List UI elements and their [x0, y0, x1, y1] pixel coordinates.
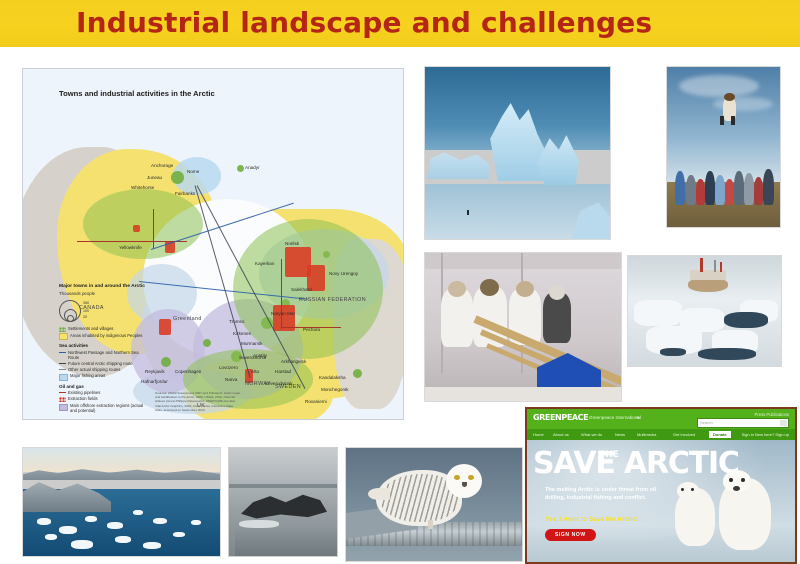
org-selector-label[interactable]: Greenpeace International [589, 415, 641, 420]
legend-section-title: Sea activities [59, 343, 145, 348]
dark-line-icon [59, 363, 66, 364]
tent-roof [425, 253, 621, 269]
iceberg-fragment [59, 526, 77, 534]
greenpeace-logo[interactable]: GREENPEACE [533, 413, 588, 422]
hood [549, 285, 565, 300]
legend-item-label: Settlements and villages [68, 326, 113, 331]
horizon [229, 484, 337, 488]
iceberg-fragment [191, 520, 201, 525]
photo-iceberg [424, 66, 611, 240]
leg [731, 116, 735, 125]
map-town-label: Lovozero [219, 365, 238, 370]
owl-head [446, 464, 482, 498]
iceberg-fragment [133, 510, 143, 515]
seated-person [543, 293, 571, 343]
ice-floe [634, 300, 682, 326]
map-town-label: Whitehorse [131, 185, 154, 190]
map-pipeline [153, 209, 154, 249]
legend-item: Future central Arctic shipping route [59, 361, 145, 366]
map-country-label: Greenland [173, 316, 202, 322]
nav-item-what-we-do[interactable]: What we do [581, 432, 602, 437]
map-town-label: Nome [187, 169, 199, 174]
iceberg-fragment [37, 518, 51, 525]
map-town-label: Novy Urengoy [329, 271, 358, 276]
nav-item-news[interactable]: News [615, 432, 625, 437]
photo-blanket-toss [666, 66, 781, 228]
leg [720, 116, 724, 125]
legend-item-label: Northwest Passage and Northern Sea Route [68, 350, 145, 360]
bear-eye [729, 478, 733, 482]
fur-hood [448, 281, 466, 297]
search-icon[interactable] [780, 420, 787, 426]
cloud [679, 75, 759, 97]
nav-item-about-us[interactable]: About us [553, 432, 569, 437]
hero-cta-text: Yes, I want to Save the Arctic! [545, 516, 638, 523]
iceberg-fragment [107, 522, 123, 529]
map-town-marker [353, 369, 362, 378]
photo-whale-fluke [228, 447, 338, 557]
open-water-lead [724, 312, 768, 328]
hero-headline-the: THE [599, 450, 619, 460]
photo-snowy-owl [345, 447, 523, 562]
map-town-label: Kirkenes [233, 331, 251, 336]
map-town-label: Yellowknife [119, 245, 142, 250]
legend-scale-label: Thousands people [59, 291, 145, 297]
crowd-person [696, 179, 705, 205]
nav-item-get-involved[interactable]: Get involved [673, 432, 695, 437]
owl-beak [462, 482, 467, 487]
seated-person [441, 289, 473, 347]
legend-item: Extraction fields [59, 396, 145, 402]
map-town-label: Anchorage [151, 163, 173, 168]
page-title: Industrial landscape and challenges [76, 6, 652, 39]
iceberg-fragment [71, 540, 93, 549]
map-town-label: Tromso [229, 319, 244, 324]
map-town-marker [171, 171, 184, 184]
chevron-down-icon[interactable]: ▾ [637, 415, 639, 421]
legend-proportional-circles: 350 100 20 [59, 299, 145, 325]
map-town-label: Copenhagen [175, 369, 201, 374]
map-town-marker [237, 165, 244, 172]
legend-item: Northwest Passage and Northern Sea Route [59, 350, 145, 360]
map-town-label: Norilsk [285, 241, 299, 246]
legend-item-label: Areas inhabited by indigenous Peoples [70, 333, 142, 338]
map-town-label: Murmansk [241, 341, 262, 346]
photo-fjord-icebergs [22, 447, 221, 557]
sign-now-button[interactable]: SIGN NOW [545, 529, 596, 541]
green-dots-icon [59, 327, 66, 332]
legend-heading: Major towns in and around the Arctic [59, 284, 145, 290]
polar-bear-head [677, 482, 699, 499]
legend-item: Settlements and villages [59, 326, 145, 332]
hero-body-text: The melting Arctic is under threat from … [545, 486, 663, 502]
slide-title-bar: Industrial landscape and challenges [0, 0, 800, 47]
map-town-label: Harstad [275, 369, 291, 374]
snow-floor [425, 387, 621, 401]
crowd-person [754, 177, 763, 205]
iceberg-fragment [153, 518, 167, 524]
yellow-area-icon [59, 333, 68, 340]
map-indigenous-area [83, 189, 203, 259]
iceberg-fragment [173, 532, 185, 537]
map-extraction-field [159, 319, 171, 335]
legend-item-label: Major fishing areas [70, 373, 105, 378]
legend-scale-value: 100 [83, 309, 89, 313]
person-on-ice [467, 210, 469, 215]
owl-eye [454, 475, 460, 480]
hero-headline: SAVE ARCTIC [533, 446, 739, 481]
map-town-marker [161, 357, 171, 367]
crowd-person [705, 171, 715, 205]
crowd-person [686, 175, 696, 205]
map-town-marker [203, 339, 211, 347]
sky-region [23, 448, 220, 472]
map-town-label: Salekhard [291, 287, 312, 292]
map-town-label: Severodvinsk [265, 381, 293, 386]
map-legend: Major towns in and around the Arctic Tho… [59, 284, 145, 413]
map-pipeline [281, 259, 282, 329]
blue-line-icon [59, 352, 66, 353]
map-source-credit: Sources: AMAP Assessment 2007 and Pollut… [155, 391, 241, 412]
derrick [700, 258, 703, 272]
map-town-label: Naryan Mar [271, 311, 295, 316]
red-line-icon [59, 392, 66, 393]
map-town-label: Kayerkan [255, 261, 274, 266]
bear-eye [741, 478, 745, 482]
donate-button[interactable]: Donate [709, 431, 731, 438]
map-town-label: Anadyr [245, 165, 260, 170]
blue-patch-icon [59, 374, 68, 381]
map-town-label: Rovaniemi [305, 399, 327, 404]
purple-patch-icon [59, 404, 68, 411]
map-town-label: Fairbanks [175, 191, 195, 196]
search-input[interactable]: Search [697, 418, 789, 428]
legend-scale-value: 350 [83, 301, 89, 305]
cloud [713, 97, 773, 111]
iceberg-fragment [115, 536, 131, 543]
mast [714, 260, 716, 272]
greenpeace-header-bar: GREENPEACE Greenpeace International ▾ Pr… [527, 409, 795, 429]
rig-hull [688, 278, 728, 292]
legend-item-label: Main offshore extraction regions (actual… [70, 403, 145, 413]
crowd-person [715, 175, 725, 205]
legend-circle-small [67, 315, 74, 322]
map-town-label: Juneau [147, 175, 162, 180]
map-country-label: RUSSIAN FEDERATION [299, 297, 366, 303]
map-town-label: Monchegorsk [321, 387, 349, 392]
thin-line-icon [59, 369, 66, 370]
header-utility-links[interactable]: Press Publications [755, 412, 789, 417]
map-town-label: Severomorsk [239, 355, 266, 360]
nav-item-multimedia[interactable]: Multimedia [637, 432, 656, 437]
fur-hood [724, 93, 735, 101]
iceberg-fragment [85, 516, 97, 522]
legend-item: Main offshore extraction regions (actual… [59, 403, 145, 413]
fur-hood [480, 279, 499, 296]
water-splash [239, 520, 279, 528]
arctic-map-figure: Towns and industrial activities in the A… [22, 68, 404, 420]
map-extraction-field [133, 225, 140, 232]
bear-eye [681, 488, 684, 491]
legend-item: Other actual shipping routes [59, 367, 145, 372]
legend-item: Existing pipelines [59, 390, 145, 395]
open-water-lead [698, 348, 756, 360]
legend-item-label: Future central Arctic shipping route [68, 361, 133, 366]
owl-tail [368, 488, 390, 500]
map-town-label: Alta [251, 369, 259, 374]
crowd-person [734, 171, 744, 205]
legend-item: Areas inhabited by indigenous Peoples [59, 333, 145, 341]
legend-item-label: Extraction fields [68, 396, 98, 401]
legend-section-title: Oil and gas [59, 384, 145, 389]
map-town-label: Kandalaksha [319, 375, 346, 380]
map-town-label: Pechora [303, 327, 320, 332]
legend-item-label: Other actual shipping routes [68, 367, 120, 372]
iceberg-fragment [143, 542, 161, 549]
mast [720, 262, 722, 272]
water-foreground [235, 528, 338, 556]
crowd-person [744, 173, 754, 205]
open-water-lead [660, 348, 686, 356]
iceberg-left [427, 145, 489, 179]
account-links[interactable]: Sign in New here? Sign up [742, 432, 789, 437]
owl-talon [428, 520, 433, 529]
legend-scale-value: 20 [83, 315, 87, 319]
map-town-label: Hafnarfjordur [141, 379, 168, 384]
crowd-person [675, 171, 685, 205]
bear-nose [733, 486, 740, 491]
foreground-island [23, 478, 111, 512]
map-town-label: Reykjavik [145, 369, 165, 374]
owl-eye [468, 475, 474, 480]
iceberg-fragment [45, 534, 57, 540]
fur-hood [516, 281, 534, 297]
red-dots-icon [59, 397, 66, 402]
bear-eye [691, 488, 694, 491]
photo-oil-rig-ice [627, 255, 782, 367]
greenpeace-nav-bar: Home About us What we do News Multimedia… [527, 429, 795, 440]
photo-whaling-tent [424, 252, 622, 402]
map-town-label: Narva [225, 377, 237, 382]
greenpeace-hero-banner: SAVE ARCTIC THE The melting Arctic is un… [527, 440, 795, 562]
photo-greenpeace-save-the-arctic: GREENPEACE Greenpeace International ▾ Pr… [525, 407, 797, 564]
search-placeholder: Search [700, 420, 713, 425]
nav-item-home[interactable]: Home [533, 432, 544, 437]
map-title: Towns and industrial activities in the A… [59, 89, 215, 98]
crowd-person [725, 179, 734, 205]
crowd-person [763, 169, 774, 205]
legend-item: Major fishing areas [59, 373, 145, 381]
legend-item-label: Existing pipelines [68, 390, 100, 395]
map-town-label: Arkhangelsk [281, 359, 306, 364]
